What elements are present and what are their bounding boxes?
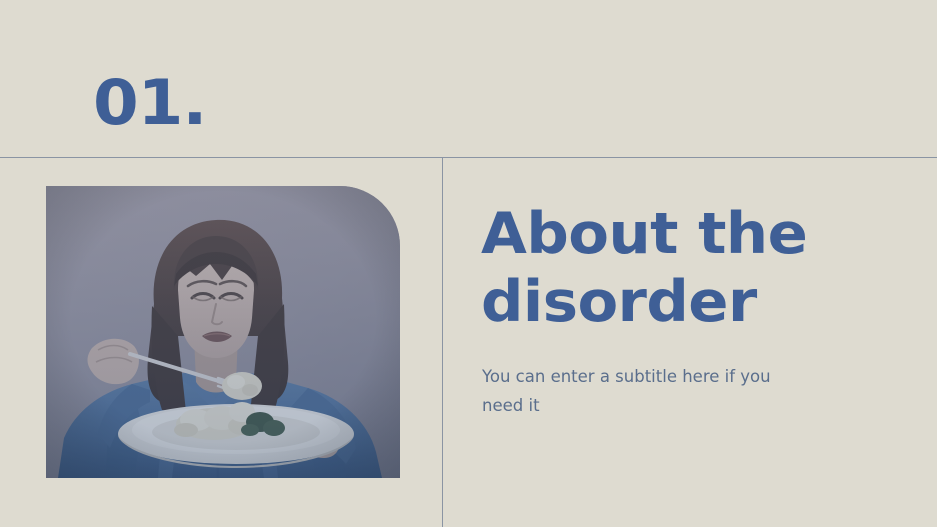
photo-frame	[46, 186, 400, 478]
vertical-divider	[442, 158, 443, 527]
page-title: About the disorder	[481, 200, 918, 336]
page-title-line-1: About the	[481, 200, 918, 268]
woman-eating-photo	[46, 186, 400, 478]
section-number: 01.	[93, 72, 206, 134]
horizontal-divider	[0, 157, 937, 158]
page-subtitle: You can enter a subtitle here if you nee…	[482, 362, 792, 420]
page-title-line-2: disorder	[481, 268, 918, 336]
slide: 01.	[0, 0, 937, 527]
